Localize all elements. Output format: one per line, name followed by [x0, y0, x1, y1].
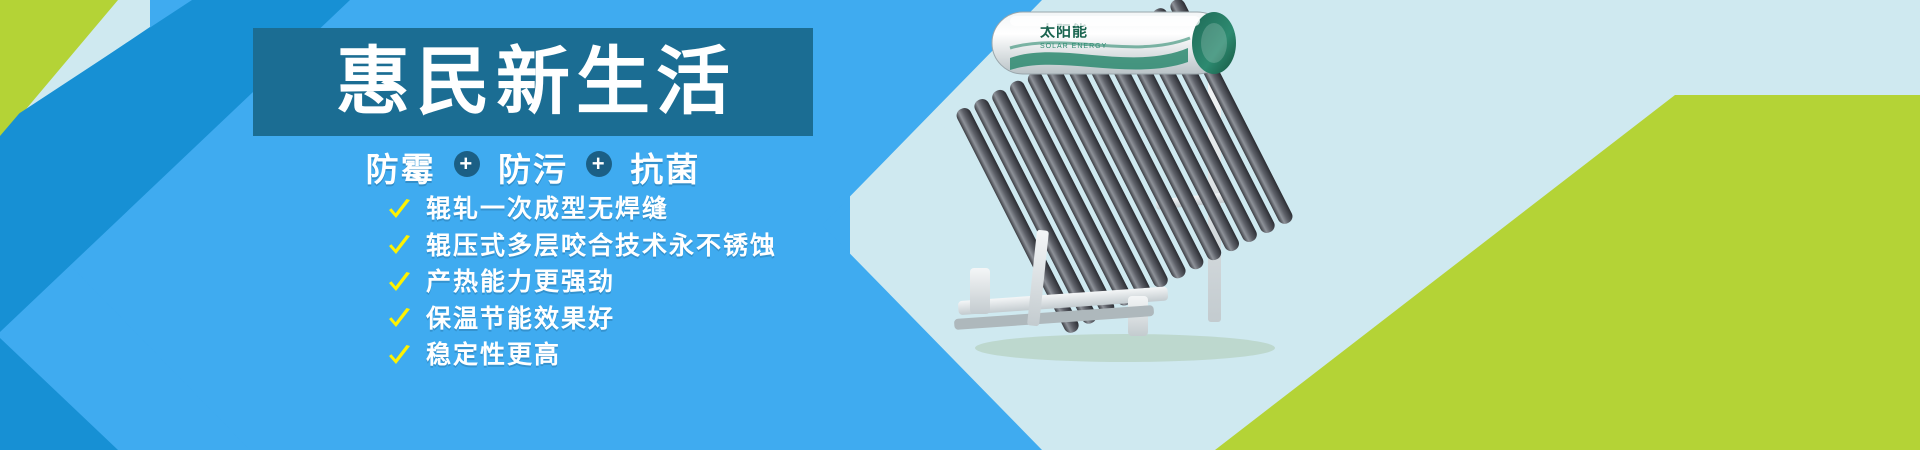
list-item-label: 产热能力更强劲: [426, 269, 615, 297]
svg-text:SOLAR ENERGY: SOLAR ENERGY: [1040, 43, 1107, 50]
list-item-label: 保温节能效果好: [426, 306, 615, 334]
list-item: 辊压式多层咬合技术永不锈蚀: [386, 233, 777, 261]
banner-content: 惠民新生活 防霉 + 防污 + 抗菌 辊轧一次成型无焊缝 辊压式多层咬合技术永不…: [0, 0, 1040, 450]
subtitle-part-3: 抗菌: [630, 143, 700, 191]
product-shadow: [975, 334, 1275, 362]
plus-icon: +: [586, 151, 612, 177]
subtitle-part-2: 防污: [498, 143, 568, 191]
check-icon: [386, 233, 412, 259]
product-tank: 太阳能 SOLAR ENERGY: [992, 12, 1236, 74]
list-item: 辊轧一次成型无焊缝: [386, 196, 777, 224]
list-item-label: 稳定性更高: [426, 342, 561, 370]
check-icon: [386, 306, 412, 332]
plus-icon: +: [454, 151, 480, 177]
headline-box: 惠民新生活: [253, 28, 813, 136]
subtitle-part-1: 防霉: [366, 143, 436, 191]
list-item: 稳定性更高: [386, 342, 777, 370]
feature-list: 辊轧一次成型无焊缝 辊压式多层咬合技术永不锈蚀 产热能力更强劲 保温节能效果好: [386, 196, 777, 370]
page-title: 惠民新生活: [330, 45, 736, 119]
list-item: 产热能力更强劲: [386, 269, 777, 297]
product-image: 太阳能 SOLAR ENERGY: [940, 0, 1360, 370]
subtitle: 防霉 + 防污 + 抗菌: [253, 143, 813, 191]
list-item-label: 辊压式多层咬合技术永不锈蚀: [426, 233, 777, 261]
list-item: 保温节能效果好: [386, 306, 777, 334]
promo-banner: 惠民新生活 防霉 + 防污 + 抗菌 辊轧一次成型无焊缝 辊压式多层咬合技术永不…: [0, 0, 1920, 450]
check-icon: [386, 197, 412, 223]
check-icon: [386, 343, 412, 369]
list-item-label: 辊轧一次成型无焊缝: [426, 196, 669, 224]
check-icon: [386, 270, 412, 296]
